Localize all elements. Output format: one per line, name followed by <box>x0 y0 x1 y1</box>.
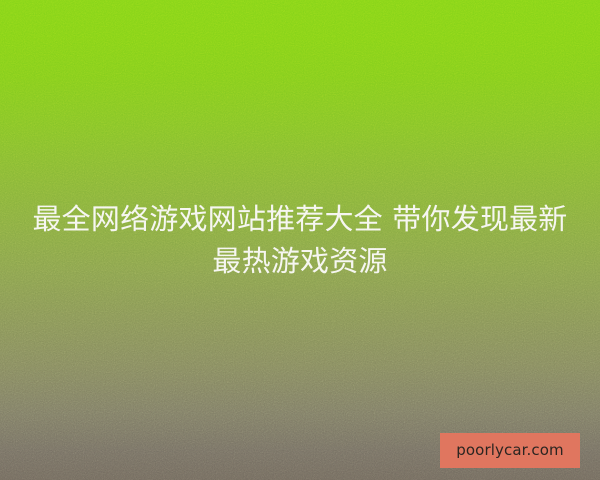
watermark-label: poorlycar.com <box>456 443 563 458</box>
promo-banner-image: 最全网络游戏网站推荐大全 带你发现最新最热游戏资源 poorlycar.com <box>0 0 600 480</box>
headline-text: 最全网络游戏网站推荐大全 带你发现最新最热游戏资源 <box>0 198 600 282</box>
watermark-badge: poorlycar.com <box>440 433 580 468</box>
